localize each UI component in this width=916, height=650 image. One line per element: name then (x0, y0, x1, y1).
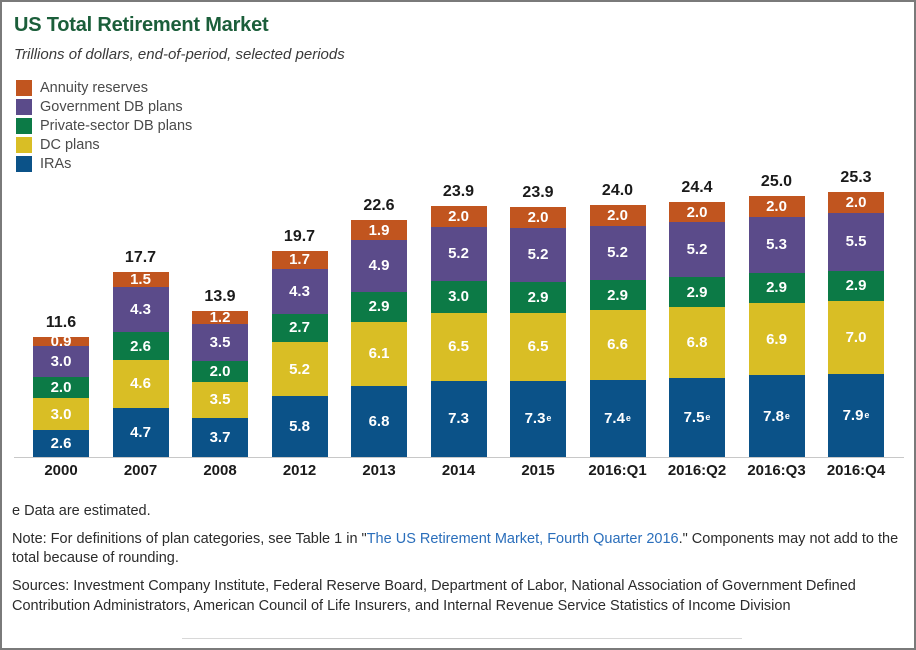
bar-segment[interactable]: 2.0 (431, 206, 487, 227)
bar-total-label: 22.6 (340, 197, 418, 215)
segment-value-label: 1.2 (210, 311, 231, 324)
segment-value-label: 7.3 (448, 411, 469, 426)
bar-segment[interactable]: 2.9 (510, 282, 566, 312)
segment-value-label: 2.9 (687, 285, 708, 300)
segment-value-label: 5.2 (448, 246, 469, 261)
bar-group[interactable]: 11.60.93.02.03.02.62000 (22, 2, 100, 472)
bar-segment[interactable]: 6.8 (669, 307, 725, 378)
estimate-marker: e (785, 412, 790, 421)
bar-segment[interactable]: 1.2 (192, 311, 248, 324)
segment-value-label: 6.8 (687, 335, 708, 350)
segment-value-label: 6.8 (369, 414, 390, 429)
bar-stack: 2.05.22.96.87.5e (669, 202, 725, 457)
bar-segment[interactable]: 6.1 (351, 322, 407, 386)
segment-value-label: 5.5 (846, 234, 867, 249)
segment-value-label: 6.1 (369, 346, 390, 361)
segment-value-label: 5.2 (607, 245, 628, 260)
bar-segment[interactable]: 2.0 (192, 361, 248, 382)
segment-value-label: 2.0 (210, 364, 231, 379)
bar-segment[interactable]: 5.2 (590, 226, 646, 280)
segment-value-label: 2.0 (607, 208, 628, 223)
segment-value-label: 2.0 (51, 380, 72, 395)
bar-segment[interactable]: 3.5 (192, 382, 248, 419)
segment-value-label: 2.9 (766, 280, 787, 295)
segment-value-label: 2.9 (846, 278, 867, 293)
bar-group[interactable]: 23.92.05.23.06.57.32014 (420, 2, 498, 472)
bar-segment[interactable]: 4.3 (272, 269, 328, 314)
bar-total-label: 19.7 (261, 228, 339, 246)
bar-total-label: 11.6 (22, 314, 100, 332)
bar-stack: 2.05.52.97.07.9e (828, 192, 884, 457)
segment-value-label: 1.5 (130, 272, 151, 287)
bar-group[interactable]: 13.91.23.52.03.53.72008 (181, 2, 259, 472)
segment-value-label: 2.0 (766, 199, 787, 214)
bottom-divider (182, 638, 742, 639)
segment-value-label: 1.9 (369, 223, 390, 238)
bar-group[interactable]: 23.92.05.22.96.57.3e2015 (499, 2, 577, 472)
bar-segment[interactable]: 6.5 (431, 313, 487, 381)
segment-value-label: 4.9 (369, 258, 390, 273)
bar-segment[interactable]: 5.2 (272, 342, 328, 396)
segment-value-label: 2.0 (846, 195, 867, 210)
bar-total-label: 24.0 (579, 182, 657, 200)
bar-stack: 0.93.02.03.02.6 (33, 337, 89, 457)
segment-value-label: 5.8 (289, 419, 310, 434)
bar-segment[interactable]: 2.7 (272, 314, 328, 342)
segment-value-label: 7.5 (684, 410, 705, 425)
segment-value-label: 6.9 (766, 332, 787, 347)
bar-segment[interactable]: 2.6 (113, 332, 169, 359)
bar-group[interactable]: 25.32.05.52.97.07.9e2016:Q4 (817, 2, 895, 472)
bar-total-label: 13.9 (181, 288, 259, 306)
bar-segment[interactable]: 2.9 (749, 273, 805, 303)
segment-value-label: 2.7 (289, 320, 310, 335)
bar-segment[interactable]: 7.0 (828, 301, 884, 374)
bar-segment[interactable]: 4.9 (351, 240, 407, 291)
segment-value-label: 3.7 (210, 430, 231, 445)
segment-value-label: 3.0 (51, 407, 72, 422)
bar-segment[interactable]: 5.8 (272, 396, 328, 457)
bar-segment[interactable]: 2.0 (669, 202, 725, 223)
bar-segment[interactable]: 2.0 (749, 196, 805, 217)
bar-segment[interactable]: 3.0 (431, 281, 487, 312)
segment-value-label: 2.0 (528, 210, 549, 225)
bar-segment[interactable]: 2.6 (33, 430, 89, 457)
segment-value-label: 2.0 (448, 209, 469, 224)
bar-segment[interactable]: 5.3 (749, 217, 805, 272)
bar-segment[interactable]: 3.0 (33, 398, 89, 429)
bar-segment[interactable]: 6.9 (749, 303, 805, 375)
segment-value-label: 2.9 (369, 299, 390, 314)
bar-segment[interactable]: 1.5 (113, 272, 169, 288)
segment-value-label: 3.5 (210, 335, 231, 350)
segment-value-label: 5.2 (528, 247, 549, 262)
bar-segment[interactable]: 7.8e (749, 375, 805, 457)
x-axis-category-label: 2016:Q4 (806, 462, 906, 479)
segment-value-label: 6.5 (528, 339, 549, 354)
segment-value-label: 2.9 (528, 290, 549, 305)
plot-area: 11.60.93.02.03.02.6200017.71.54.32.64.64… (2, 2, 916, 472)
bar-total-label: 25.0 (738, 173, 816, 191)
bar-group[interactable]: 25.02.05.32.96.97.8e2016:Q3 (738, 2, 816, 472)
bar-group[interactable]: 17.71.54.32.64.64.72007 (102, 2, 180, 472)
bar-segment[interactable]: 2.9 (669, 277, 725, 307)
bar-segment[interactable]: 0.9 (33, 337, 89, 346)
bar-stack: 1.74.32.75.25.8 (272, 251, 328, 457)
segment-value-label: 2.9 (607, 288, 628, 303)
segment-value-label: 7.3 (525, 411, 546, 426)
segment-value-label: 5.2 (687, 242, 708, 257)
bar-segment[interactable]: 4.6 (113, 360, 169, 408)
bar-stack: 1.94.92.96.16.8 (351, 220, 407, 457)
footnotes-block: e Data are estimated. Note: For definiti… (12, 502, 902, 617)
note-prefix: Note: For definitions of plan categories… (12, 531, 367, 547)
segment-value-label: 5.3 (766, 237, 787, 252)
bar-segment[interactable]: 7.3 (431, 381, 487, 457)
segment-value-label: 6.5 (448, 339, 469, 354)
segment-value-label: 4.3 (289, 284, 310, 299)
segment-value-label: 3.0 (51, 354, 72, 369)
bar-segment[interactable]: 7.3e (510, 381, 566, 457)
bar-stack: 2.05.23.06.57.3 (431, 206, 487, 457)
definitions-note: Note: For definitions of plan categories… (12, 530, 902, 568)
estimate-marker: e (705, 413, 710, 422)
bar-group[interactable]: 24.02.05.22.96.67.4e2016:Q1 (579, 2, 657, 472)
bar-stack: 1.23.52.03.53.7 (192, 311, 248, 457)
segment-value-label: 2.6 (51, 436, 72, 451)
segment-value-label: 6.6 (607, 337, 628, 352)
segment-value-label: 7.8 (763, 409, 784, 424)
bar-segment[interactable]: 2.9 (828, 271, 884, 301)
bar-segment[interactable]: 5.2 (510, 228, 566, 282)
bar-segment[interactable]: 3.5 (192, 324, 248, 361)
bar-total-label: 25.3 (817, 169, 895, 187)
segment-value-label: 4.7 (130, 425, 151, 440)
bar-segment[interactable]: 4.7 (113, 408, 169, 457)
bar-segment[interactable]: 2.0 (590, 205, 646, 226)
bar-total-label: 23.9 (420, 183, 498, 201)
bar-segment[interactable]: 2.0 (510, 207, 566, 228)
estimate-marker: e (626, 414, 631, 423)
bar-segment[interactable]: 3.7 (192, 418, 248, 457)
bar-segment[interactable]: 5.5 (828, 213, 884, 271)
sources-note: Sources: Investment Company Institute, F… (12, 577, 902, 616)
bar-total-label: 23.9 (499, 184, 577, 202)
segment-value-label: 7.0 (846, 330, 867, 345)
segment-value-label: 4.3 (130, 302, 151, 317)
segment-value-label: 3.5 (210, 392, 231, 407)
bar-stack: 2.05.32.96.97.8e (749, 196, 805, 457)
bar-stack: 1.54.32.64.64.7 (113, 272, 169, 457)
estimate-marker: e (864, 411, 869, 420)
bar-segment[interactable]: 4.3 (113, 287, 169, 332)
segment-value-label: 0.9 (51, 337, 72, 346)
segment-value-label: 2.6 (130, 339, 151, 354)
bar-segment[interactable]: 2.0 (33, 377, 89, 398)
bar-total-label: 24.4 (658, 179, 736, 197)
retirement-market-report-link[interactable]: The US Retirement Market, Fourth Quarter… (367, 531, 679, 547)
chart-figure: US Total Retirement Market Trillions of … (0, 0, 916, 650)
bar-group[interactable]: 22.61.94.92.96.16.82013 (340, 2, 418, 472)
bar-segment[interactable]: 7.5e (669, 378, 725, 457)
segment-value-label: 2.0 (687, 205, 708, 220)
bar-segment[interactable]: 2.0 (828, 192, 884, 213)
bar-segment[interactable]: 7.4e (590, 380, 646, 457)
segment-value-label: 7.9 (843, 408, 864, 423)
bar-segment[interactable]: 2.9 (351, 292, 407, 322)
bar-segment[interactable]: 6.8 (351, 386, 407, 457)
bar-group[interactable]: 19.71.74.32.75.25.82012 (261, 2, 339, 472)
bar-segment[interactable]: 7.9e (828, 374, 884, 457)
segment-value-label: 5.2 (289, 362, 310, 377)
estimate-footnote: e Data are estimated. (12, 502, 902, 521)
bar-segment[interactable]: 5.2 (669, 222, 725, 276)
bar-segment[interactable]: 6.6 (590, 310, 646, 379)
bar-segment[interactable]: 5.2 (431, 227, 487, 281)
segment-value-label: 4.6 (130, 376, 151, 391)
segment-value-label: 7.4 (604, 411, 625, 426)
bar-segment[interactable]: 2.9 (590, 280, 646, 310)
bar-group[interactable]: 24.42.05.22.96.87.5e2016:Q2 (658, 2, 736, 472)
bar-segment[interactable]: 3.0 (33, 346, 89, 377)
estimate-marker: e (546, 414, 551, 423)
segment-value-label: 1.7 (289, 252, 310, 267)
bar-stack: 2.05.22.96.57.3e (510, 207, 566, 457)
bar-stack: 2.05.22.96.67.4e (590, 205, 646, 457)
bar-segment[interactable]: 6.5 (510, 313, 566, 381)
bar-total-label: 17.7 (102, 249, 180, 267)
segment-value-label: 3.0 (448, 289, 469, 304)
bar-segment[interactable]: 1.9 (351, 220, 407, 240)
bar-segment[interactable]: 1.7 (272, 251, 328, 269)
